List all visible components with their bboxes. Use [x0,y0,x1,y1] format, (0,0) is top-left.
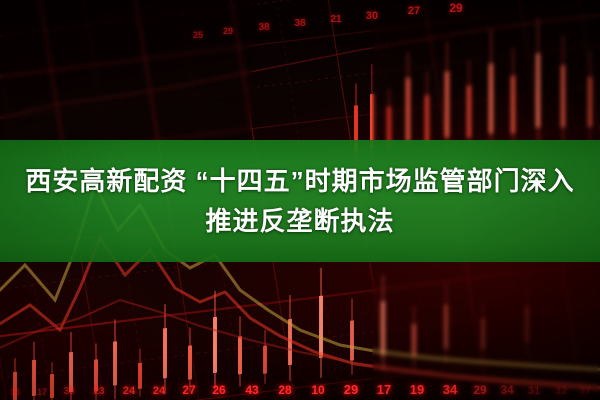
axis-tick-label: 26 [212,383,225,397]
axis-tick-label: 17 [377,382,391,397]
axis-tick-label: 34 [500,383,513,397]
axis-top-tick: 25 [193,30,203,40]
axis-tick-label: 29 [344,382,358,397]
axis-tick-label: 23 [93,386,104,397]
axis-top-tick: 38 [258,22,269,33]
axis-tick-label: 34 [443,382,457,397]
headline-banner: 西安高新配资 “十四五”时期市场监管部门深入 推进反垄断执法 [0,140,600,262]
chart-axis-bottom: 13 17 38 23 24 24 27 26 43 28 10 29 17 1… [0,377,600,397]
axis-tick-label: 38 [63,386,74,397]
headline-line-2: 推进反垄断执法 [205,201,394,241]
axis-tick-label: 10 [311,383,324,397]
axis-tick-label: 29 [473,383,486,397]
axis-tick-label: 13 [10,387,20,397]
axis-top-tick: 27 [408,5,420,17]
chart-axis-top: 25 29 38 38 21 30 27 29 [0,0,600,60]
axis-tick-label: 31 [528,385,540,397]
axis-tick-label: 37 [579,386,590,397]
axis-top-tick: 29 [449,1,462,15]
axis-tick-label: 32 [555,385,567,397]
axis-tick-label: 17 [37,387,47,397]
axis-top-tick: 29 [223,26,233,36]
axis-tick-label: 27 [182,383,195,397]
axis-tick-label: 24 [123,385,135,397]
banner-image: 25 29 38 38 21 30 27 29 13 17 38 23 24 2… [0,0,600,400]
axis-tick-label: 24 [153,385,165,397]
axis-tick-label: 43 [245,383,258,397]
axis-top-tick: 30 [366,10,378,22]
axis-top-tick: 38 [294,18,305,29]
axis-tick-label: 19 [410,382,424,397]
axis-top-tick: 21 [330,14,341,25]
axis-tick-label: 28 [278,383,291,397]
headline-line-1: 西安高新配资 “十四五”时期市场监管部门深入 [25,161,574,201]
